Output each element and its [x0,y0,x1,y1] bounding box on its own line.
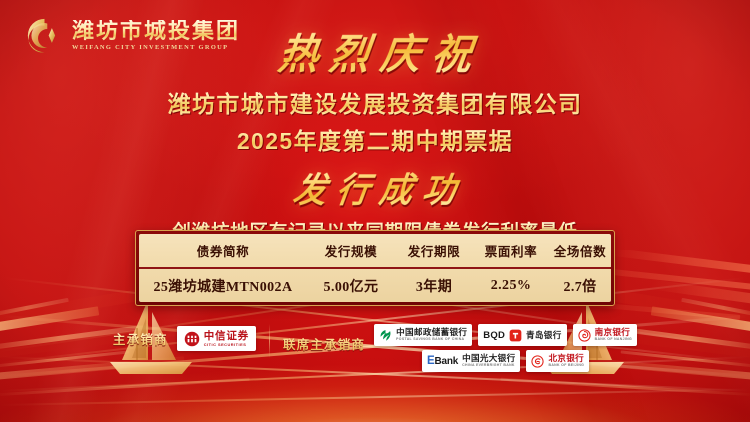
logo-label-en: CHINA EVERBRIGHT BANK [462,364,515,368]
headline-block: 热烈庆祝 潍坊市城市建设发展投资集团有限公司 2025年度第二期中期票据 发行成… [0,22,750,244]
lead-underwriter-group: 主承销商 中信证券 CITIC SECURITIES [113,322,256,351]
joint-underwriters-group: 联席主承销商 中国邮政储蓄银行 POSTAL SAVINGS BANK OF C… [283,322,637,372]
beijing-emblem-icon [531,355,544,368]
brand-name-en: WEIFANG CITY INVESTMENT GROUP [72,45,240,51]
headline-success: 发行成功 [280,162,469,212]
table-header-cell: 发行规模 [307,241,395,260]
table-header-cell: 债券简称 [139,241,307,260]
underwriters-divider [269,324,270,358]
poster-stage: 潍坊市城投集团 WEIFANG CITY INVESTMENT GROUP 热烈… [0,0,750,422]
headline-issue: 2025年度第二期中期票据 [237,122,513,156]
crescent-emblem-icon [26,17,63,54]
logo-bank-of-qingdao: BQD 青岛银行 [478,324,566,346]
lead-underwriter-label: 主承销商 [113,329,168,348]
bqd-emblem-icon [509,329,522,342]
logo-label-en: CITIC SECURITIES [204,343,249,347]
nanjing-rose-icon [578,329,591,342]
logo-mark-ebank: Bank [434,356,458,367]
table-cell-subscription-multiple: 2.7倍 [549,276,611,296]
logo-label-cn: 中信证券 [204,331,249,342]
logo-label-cn: 北京银行 [548,354,584,363]
joint-underwriters-row-1: 中国邮政储蓄银行 POSTAL SAVINGS BANK OF CHINA BQ… [374,324,637,346]
joint-underwriter-label: 联席主承销商 [283,322,365,353]
logo-label-cn: 南京银行 [595,328,632,337]
headline-celebrate: 热烈庆祝 [264,21,486,81]
underwriters-section: 主承销商 中信证券 CITIC SECURITIES 联席主承销商 [0,322,750,384]
logo-label-en: BANK OF NANJING [595,338,632,342]
table-cell-issue-size: 5.00亿元 [307,276,395,296]
logo-bank-of-nanjing: 南京银行 BANK OF NANJING [573,324,637,346]
logo-label-en: BANK OF BEIJING [548,364,584,368]
logo-postal-savings-bank: 中国邮政储蓄银行 POSTAL SAVINGS BANK OF CHINA [374,324,472,346]
table-cell-issue-term: 3年期 [395,276,473,296]
table-header-cell: 全场倍数 [549,241,611,260]
logo-label-cn: 中国光大银行 [462,354,515,363]
table-header-row: 债券简称 发行规模 发行期限 票面利率 全场倍数 [139,234,611,269]
table-header-cell: 票面利率 [473,241,549,260]
logo-label-en: POSTAL SAVINGS BANK OF CHINA [396,338,467,342]
citic-emblem-icon [184,331,200,347]
bond-details-table: 债券简称 发行规模 发行期限 票面利率 全场倍数 25潍坊城建MTN002A 5… [135,230,615,306]
everbright-e-icon: EBank [427,355,458,367]
headline-company: 潍坊市城市建设发展投资集团有限公司 [168,85,583,119]
logo-label-cn: 中国邮政储蓄银行 [396,328,467,337]
table-cell-bond-name: 25潍坊城建MTN002A [139,276,307,296]
table-header-cell: 发行期限 [395,241,473,260]
logo-mark-bqd: BQD [483,330,505,341]
joint-underwriters-row-2: EBank 中国光大银行 CHINA EVERBRIGHT BANK [374,350,637,372]
brand-logo-bar: 潍坊市城投集团 WEIFANG CITY INVESTMENT GROUP [26,17,240,54]
logo-bank-of-beijing: 北京银行 BANK OF BEIJING [526,350,589,372]
logo-citic-securities: 中信证券 CITIC SECURITIES [177,326,256,351]
psbc-emblem-icon [379,329,392,342]
table-row: 25潍坊城建MTN002A 5.00亿元 3年期 2.25% 2.7倍 [139,269,611,302]
table-cell-coupon-rate: 2.25% [473,278,549,294]
logo-label-cn: 青岛银行 [526,331,562,340]
brand-name-cn: 潍坊市城投集团 [72,20,240,42]
logo-china-everbright-bank: EBank 中国光大银行 CHINA EVERBRIGHT BANK [422,350,521,372]
